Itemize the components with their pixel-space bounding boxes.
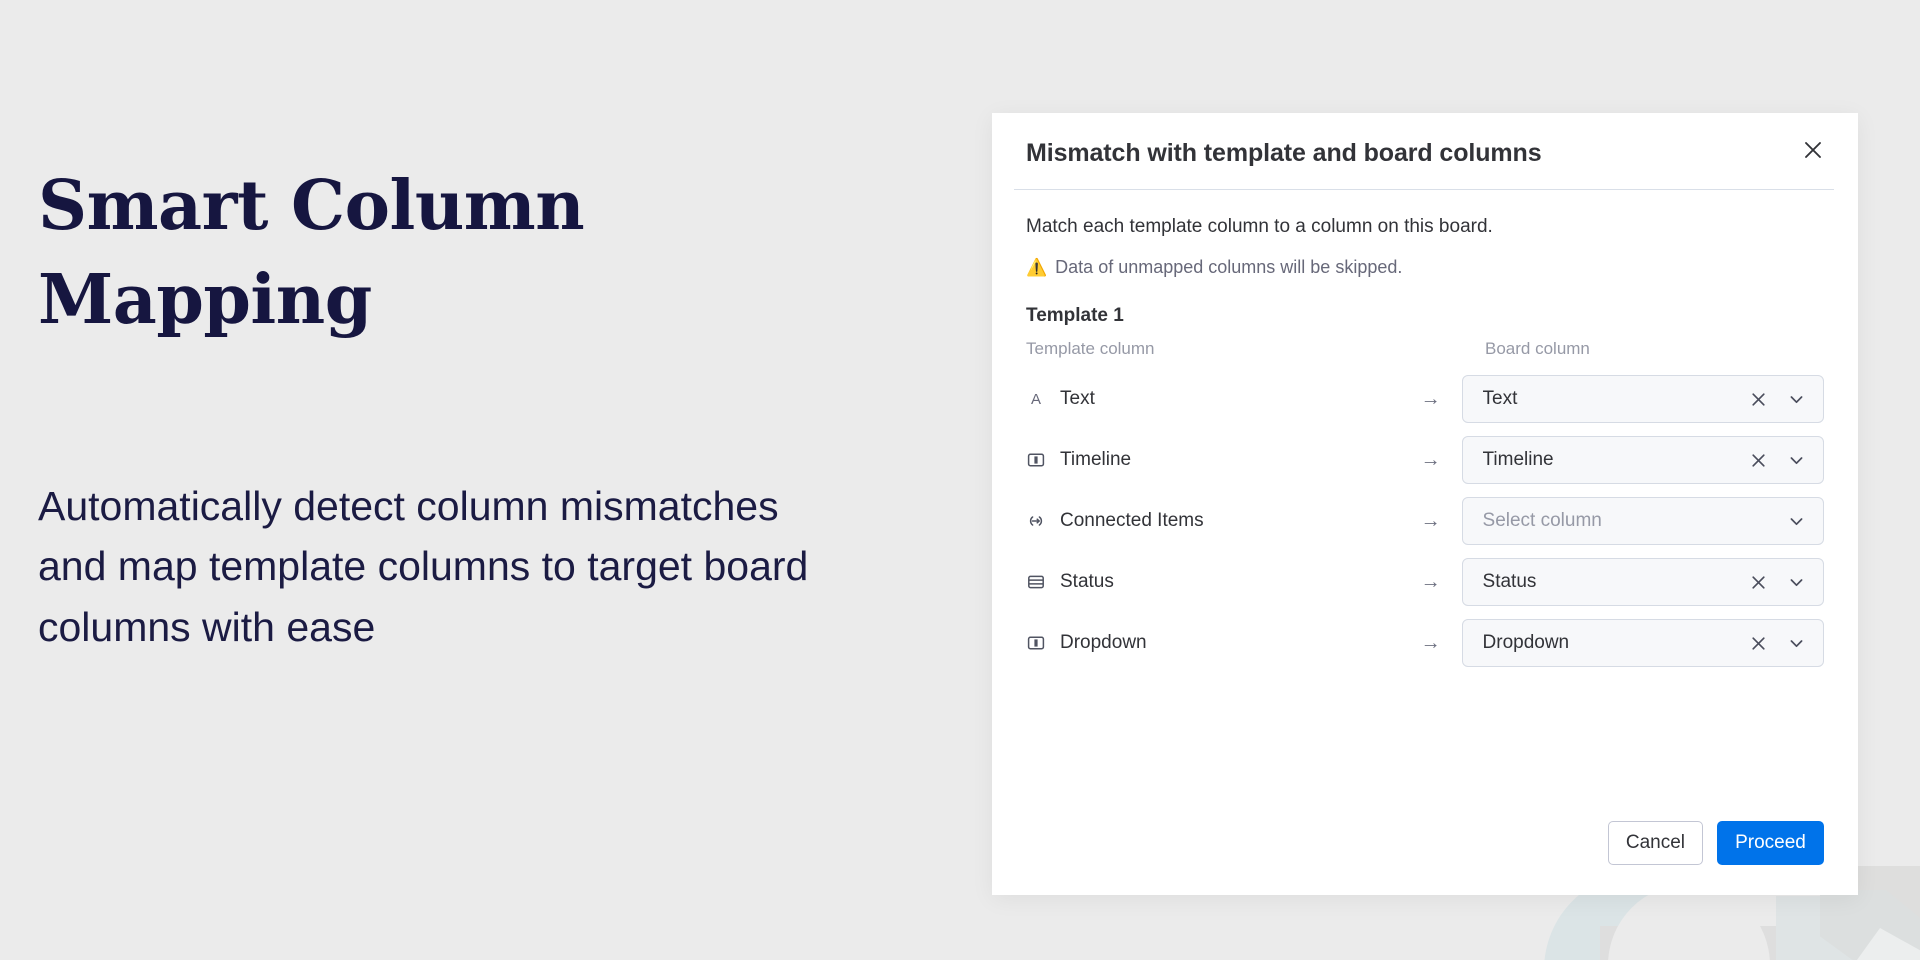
board-column-select[interactable]: Timeline (1462, 436, 1824, 484)
chevron-down-icon[interactable] (1781, 628, 1811, 658)
warning-note: ⚠️ Data of unmapped columns will be skip… (1026, 257, 1824, 278)
status-icon (1026, 572, 1046, 592)
template-column-label: Text (1060, 388, 1095, 410)
chevron-down-icon[interactable] (1781, 445, 1811, 475)
template-column-label: Dropdown (1060, 632, 1147, 654)
letter-a-icon: A (1026, 389, 1046, 409)
template-column-cell: Dropdown (1026, 632, 1412, 654)
board-column-select[interactable]: Status (1462, 558, 1824, 606)
template-column-cell: A Text (1026, 388, 1412, 410)
board-column-value: Text (1483, 388, 1743, 410)
clear-selection-icon[interactable] (1743, 567, 1773, 597)
instruction-text: Match each template column to a column o… (1026, 215, 1824, 240)
deco-chevron-light (1844, 928, 1920, 960)
template-column-label: Timeline (1060, 449, 1131, 471)
template-column-header: Template column (1026, 339, 1485, 359)
template-group-title: Template 1 (1026, 305, 1824, 327)
deco-chevron (1820, 890, 1920, 960)
mapping-rows: A Text → Text (1026, 369, 1824, 674)
template-column-label: Status (1060, 571, 1114, 593)
deco-slab (1856, 866, 1920, 918)
deco-circle-inner (1608, 884, 1770, 960)
mapping-arrow-icon: → (1412, 511, 1450, 531)
clear-selection-icon[interactable] (1743, 628, 1773, 658)
timeline-icon (1026, 450, 1046, 470)
board-column-header: Board column (1485, 339, 1590, 359)
dialog-body: Match each template column to a column o… (992, 190, 1858, 821)
template-column-cell: Status (1026, 571, 1412, 593)
mapping-arrow-icon: → (1412, 633, 1450, 653)
board-column-placeholder: Select column (1483, 510, 1773, 532)
deco-arc (1600, 926, 1776, 960)
template-column-label: Connected Items (1060, 510, 1204, 532)
mapping-arrow-icon: → (1412, 450, 1450, 470)
clear-selection-icon[interactable] (1743, 384, 1773, 414)
dialog-footer: Cancel Proceed (992, 821, 1858, 895)
board-column-value: Timeline (1483, 449, 1743, 471)
proceed-button[interactable]: Proceed (1717, 821, 1824, 865)
mapping-row: A Text → Text (1026, 369, 1824, 430)
dialog-title: Mismatch with template and board columns (1026, 139, 1824, 168)
board-column-select[interactable]: Select column (1462, 497, 1824, 545)
template-column-cell: Timeline (1026, 449, 1412, 471)
dialog-header: Mismatch with template and board columns (992, 113, 1858, 168)
chevron-down-icon[interactable] (1781, 506, 1811, 536)
page-title: Smart Column Mapping (38, 160, 598, 348)
close-icon[interactable] (1794, 131, 1832, 169)
column-mapping-dialog: Mismatch with template and board columns… (992, 113, 1858, 895)
mapping-arrow-icon: → (1412, 389, 1450, 409)
board-column-value: Dropdown (1483, 632, 1743, 654)
board-column-value: Status (1483, 571, 1743, 593)
mapping-row: Timeline → Timeline (1026, 430, 1824, 491)
column-headers: Template column Board column (1026, 339, 1824, 359)
mapping-row: Connected Items → Select column (1026, 491, 1824, 552)
mapping-row: Status → Status (1026, 552, 1824, 613)
connected-items-icon (1026, 511, 1046, 531)
marketing-panel: Smart Column Mapping Automatically detec… (38, 160, 898, 658)
dropdown-icon (1026, 633, 1046, 653)
board-column-select[interactable]: Dropdown (1462, 619, 1824, 667)
warning-icon: ⚠️ (1026, 259, 1047, 276)
chevron-down-icon[interactable] (1781, 384, 1811, 414)
deco-band (1776, 896, 1854, 960)
page-subtitle: Automatically detect column mismatches a… (38, 476, 848, 658)
template-column-cell: Connected Items (1026, 510, 1412, 532)
warning-text: Data of unmapped columns will be skipped… (1055, 257, 1402, 278)
chevron-down-icon[interactable] (1781, 567, 1811, 597)
clear-selection-icon[interactable] (1743, 445, 1773, 475)
mapping-arrow-icon: → (1412, 572, 1450, 592)
mapping-row: Dropdown → Dropdown (1026, 613, 1824, 674)
board-column-select[interactable]: Text (1462, 375, 1824, 423)
cancel-button[interactable]: Cancel (1608, 821, 1703, 865)
